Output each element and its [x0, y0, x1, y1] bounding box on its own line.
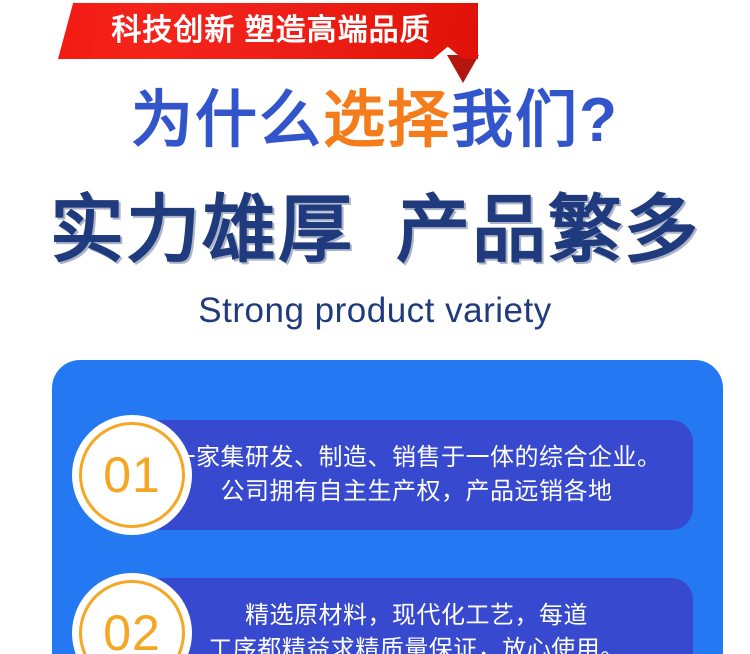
feature-text-line: 公司拥有自主生产权，产品远销各地 [221, 475, 613, 509]
badge-ring: 02 [79, 580, 185, 654]
headline-primary-part1: 为什么 [131, 86, 323, 155]
feature-text-pill: 一家集研发、制造、销售于一体的综合企业。 公司拥有自主生产权，产品远销各地 [140, 420, 693, 530]
feature-number-badge: 01 [72, 415, 192, 535]
ribbon-tail-shape [447, 55, 479, 83]
feature-text-line: 工序都精益求精质量保证，放心使用。 [208, 633, 625, 654]
headline-primary-part3: 我们? [451, 86, 619, 155]
headline-secondary-right: 产品繁多 [396, 188, 700, 271]
promo-page: 科技创新 塑造高端品质 为什么选择我们? 实力雄厚产品繁多 Strong pro… [0, 0, 750, 654]
feature-text-line: 精选原材料，现代化工艺，每道 [245, 599, 588, 633]
feature-text-pill: 精选原材料，现代化工艺，每道 工序都精益求精质量保证，放心使用。 [140, 578, 693, 654]
ribbon-text: 科技创新 塑造高端品质 [58, 3, 478, 59]
feature-item: 一家集研发、制造、销售于一体的综合企业。 公司拥有自主生产权，产品远销各地 01 [52, 420, 723, 530]
feature-card: 一家集研发、制造、销售于一体的综合企业。 公司拥有自主生产权，产品远销各地 01… [52, 360, 723, 654]
headline-secondary: 实力雄厚产品繁多 [0, 186, 750, 274]
feature-number: 01 [103, 450, 161, 500]
headline-secondary-left: 实力雄厚 [50, 188, 354, 271]
badge-ring: 01 [79, 422, 185, 528]
subtitle-english: Strong product variety [0, 289, 750, 333]
headline-primary: 为什么选择我们? [0, 84, 750, 158]
ribbon-banner: 科技创新 塑造高端品质 [0, 0, 750, 92]
feature-item: 精选原材料，现代化工艺，每道 工序都精益求精质量保证，放心使用。 02 [52, 578, 723, 654]
feature-text-line: 一家集研发、制造、销售于一体的综合企业。 [172, 441, 662, 475]
feature-number: 02 [103, 608, 161, 654]
headline-primary-part2: 选择 [323, 86, 451, 155]
